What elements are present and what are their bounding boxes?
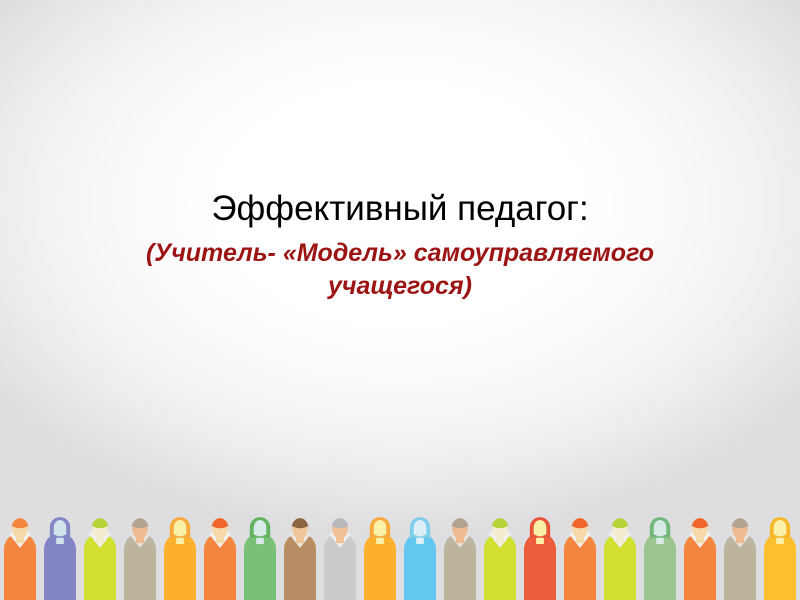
person-head — [774, 520, 787, 536]
person-figure — [84, 518, 116, 600]
person-figure — [204, 518, 236, 600]
person-hair — [212, 518, 229, 528]
person-figure — [244, 517, 276, 600]
person-figure — [44, 517, 76, 600]
person-head — [374, 520, 387, 536]
person-figure — [644, 517, 676, 600]
person-hair — [492, 518, 509, 528]
person-figure — [524, 517, 556, 600]
person-hair — [452, 518, 469, 528]
person-hair — [292, 518, 309, 528]
subtitle-line-2: учащегося) — [328, 272, 472, 300]
person-head — [414, 520, 427, 536]
person-figure — [564, 518, 596, 600]
person-figure — [284, 518, 316, 600]
person-figure — [444, 518, 476, 600]
subtitle-line-1: (Учитель- «Модель» самоуправляемого — [146, 239, 654, 267]
person-head — [54, 520, 67, 536]
person-figure — [324, 518, 356, 600]
person-hair — [612, 518, 629, 528]
person-head — [534, 520, 547, 536]
person-figure — [124, 518, 156, 600]
person-figure — [684, 518, 716, 600]
person-hair — [692, 518, 709, 528]
person-head — [654, 520, 667, 536]
person-figure — [484, 518, 516, 600]
person-hair — [132, 518, 149, 528]
person-figure — [164, 517, 196, 600]
title-block: Эффективный педагог: (Учитель- «Модель» … — [0, 188, 800, 303]
person-figure — [724, 518, 756, 600]
crowd-svg — [0, 500, 800, 600]
slide-subtitle: (Учитель- «Модель» самоуправляемого учащ… — [100, 237, 700, 303]
page-title: Эффективный педагог: — [0, 188, 800, 231]
person-figure — [4, 518, 36, 600]
person-head — [174, 520, 187, 536]
person-hair — [92, 518, 109, 528]
person-hair — [332, 518, 349, 528]
person-figure — [604, 518, 636, 600]
person-figure — [764, 517, 796, 600]
row-of-people-illustration — [0, 500, 800, 600]
person-hair — [12, 518, 29, 528]
person-hair — [572, 518, 589, 528]
presentation-slide: Эффективный педагог: (Учитель- «Модель» … — [0, 0, 800, 600]
person-figure — [364, 517, 396, 600]
person-hair — [732, 518, 749, 528]
person-head — [254, 520, 267, 536]
person-figure — [404, 517, 436, 600]
